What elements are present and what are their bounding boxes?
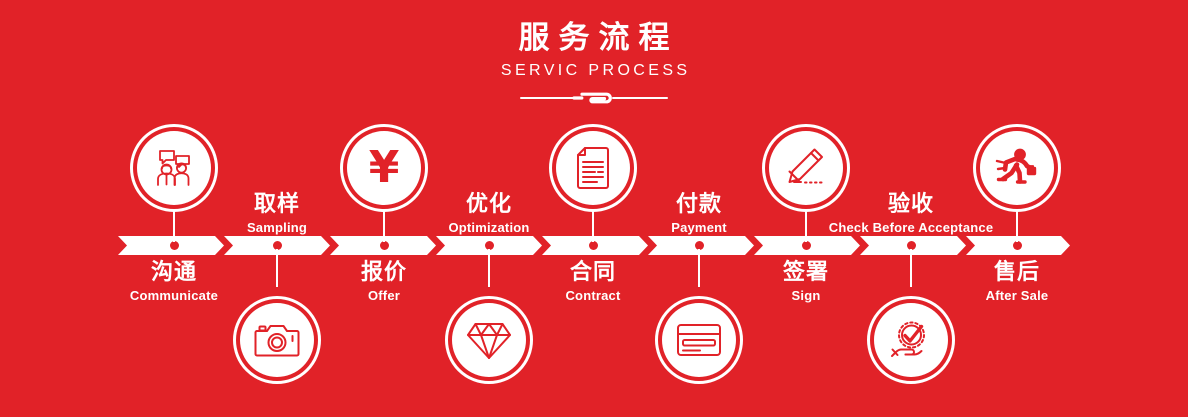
step-label-cn: 售后 bbox=[907, 258, 1127, 286]
step-caption-sign: 签署 Sign bbox=[696, 258, 916, 304]
step-label-en: Check Before Acceptance bbox=[801, 219, 1021, 236]
step-caption-check-before-acceptance: 验收 Check Before Acceptance bbox=[801, 190, 1021, 236]
pencil-sign-icon bbox=[783, 146, 829, 190]
header: 服务流程 SERVIC PROCESS bbox=[0, 18, 1188, 106]
step-label-cn: 取样 bbox=[167, 190, 387, 218]
step-label-cn: 沟通 bbox=[64, 258, 284, 286]
step-icon-check-before-acceptance[interactable] bbox=[867, 296, 955, 384]
yen-currency-icon: ¥ bbox=[369, 146, 400, 190]
step-label-en: Sampling bbox=[167, 219, 387, 236]
step-label-en: After Sale bbox=[907, 287, 1127, 304]
page-title-cn: 服务流程 bbox=[0, 18, 1188, 58]
step-caption-offer: 报价 Offer bbox=[274, 258, 494, 304]
step-icon-payment[interactable] bbox=[655, 296, 743, 384]
step-label-cn: 合同 bbox=[483, 258, 703, 286]
step-caption-communicate: 沟通 Communicate bbox=[64, 258, 284, 304]
timeline-dot bbox=[589, 241, 598, 250]
divider-line-right bbox=[612, 97, 668, 99]
step-caption-sampling: 取样 Sampling bbox=[167, 190, 387, 236]
timeline-dot bbox=[380, 241, 389, 250]
diamond-icon bbox=[466, 319, 512, 361]
step-label-en: Sign bbox=[696, 287, 916, 304]
service-process-infographic: 服务流程 SERVIC PROCESS bbox=[0, 0, 1188, 417]
step-icon-optimization[interactable] bbox=[445, 296, 533, 384]
medallion-disc bbox=[874, 303, 948, 377]
title-divider bbox=[520, 90, 668, 106]
timeline-dot bbox=[802, 241, 811, 250]
step-label-en: Contract bbox=[483, 287, 703, 304]
step-caption-contract: 合同 Contract bbox=[483, 258, 703, 304]
medallion-disc bbox=[452, 303, 526, 377]
page-title-en: SERVIC PROCESS bbox=[0, 60, 1188, 82]
timeline-dot bbox=[1013, 241, 1022, 250]
hand-checkmark-icon bbox=[888, 318, 934, 362]
paperclip-ornament-icon bbox=[568, 90, 620, 106]
step-label-cn: 付款 bbox=[589, 190, 809, 218]
people-speech-bubbles-icon bbox=[151, 145, 197, 191]
step-icon-sampling[interactable] bbox=[233, 296, 321, 384]
credit-card-icon bbox=[676, 322, 722, 358]
timeline-dot bbox=[170, 241, 179, 250]
step-label-cn: 验收 bbox=[801, 190, 1021, 218]
step-label-cn: 报价 bbox=[274, 258, 494, 286]
document-contract-icon bbox=[573, 146, 613, 190]
step-caption-optimization: 优化 Optimization bbox=[379, 190, 599, 236]
running-person-briefcase-icon bbox=[993, 146, 1041, 190]
step-label-en: Offer bbox=[274, 287, 494, 304]
medallion-disc bbox=[240, 303, 314, 377]
step-label-en: Communicate bbox=[64, 287, 284, 304]
step-label-en: Payment bbox=[589, 219, 809, 236]
step-label-en: Optimization bbox=[379, 219, 599, 236]
step-label-cn: 签署 bbox=[696, 258, 916, 286]
step-label-cn: 优化 bbox=[379, 190, 599, 218]
camera-icon bbox=[254, 321, 300, 359]
step-caption-after-sale: 售后 After Sale bbox=[907, 258, 1127, 304]
medallion-disc bbox=[662, 303, 736, 377]
step-caption-payment: 付款 Payment bbox=[589, 190, 809, 236]
